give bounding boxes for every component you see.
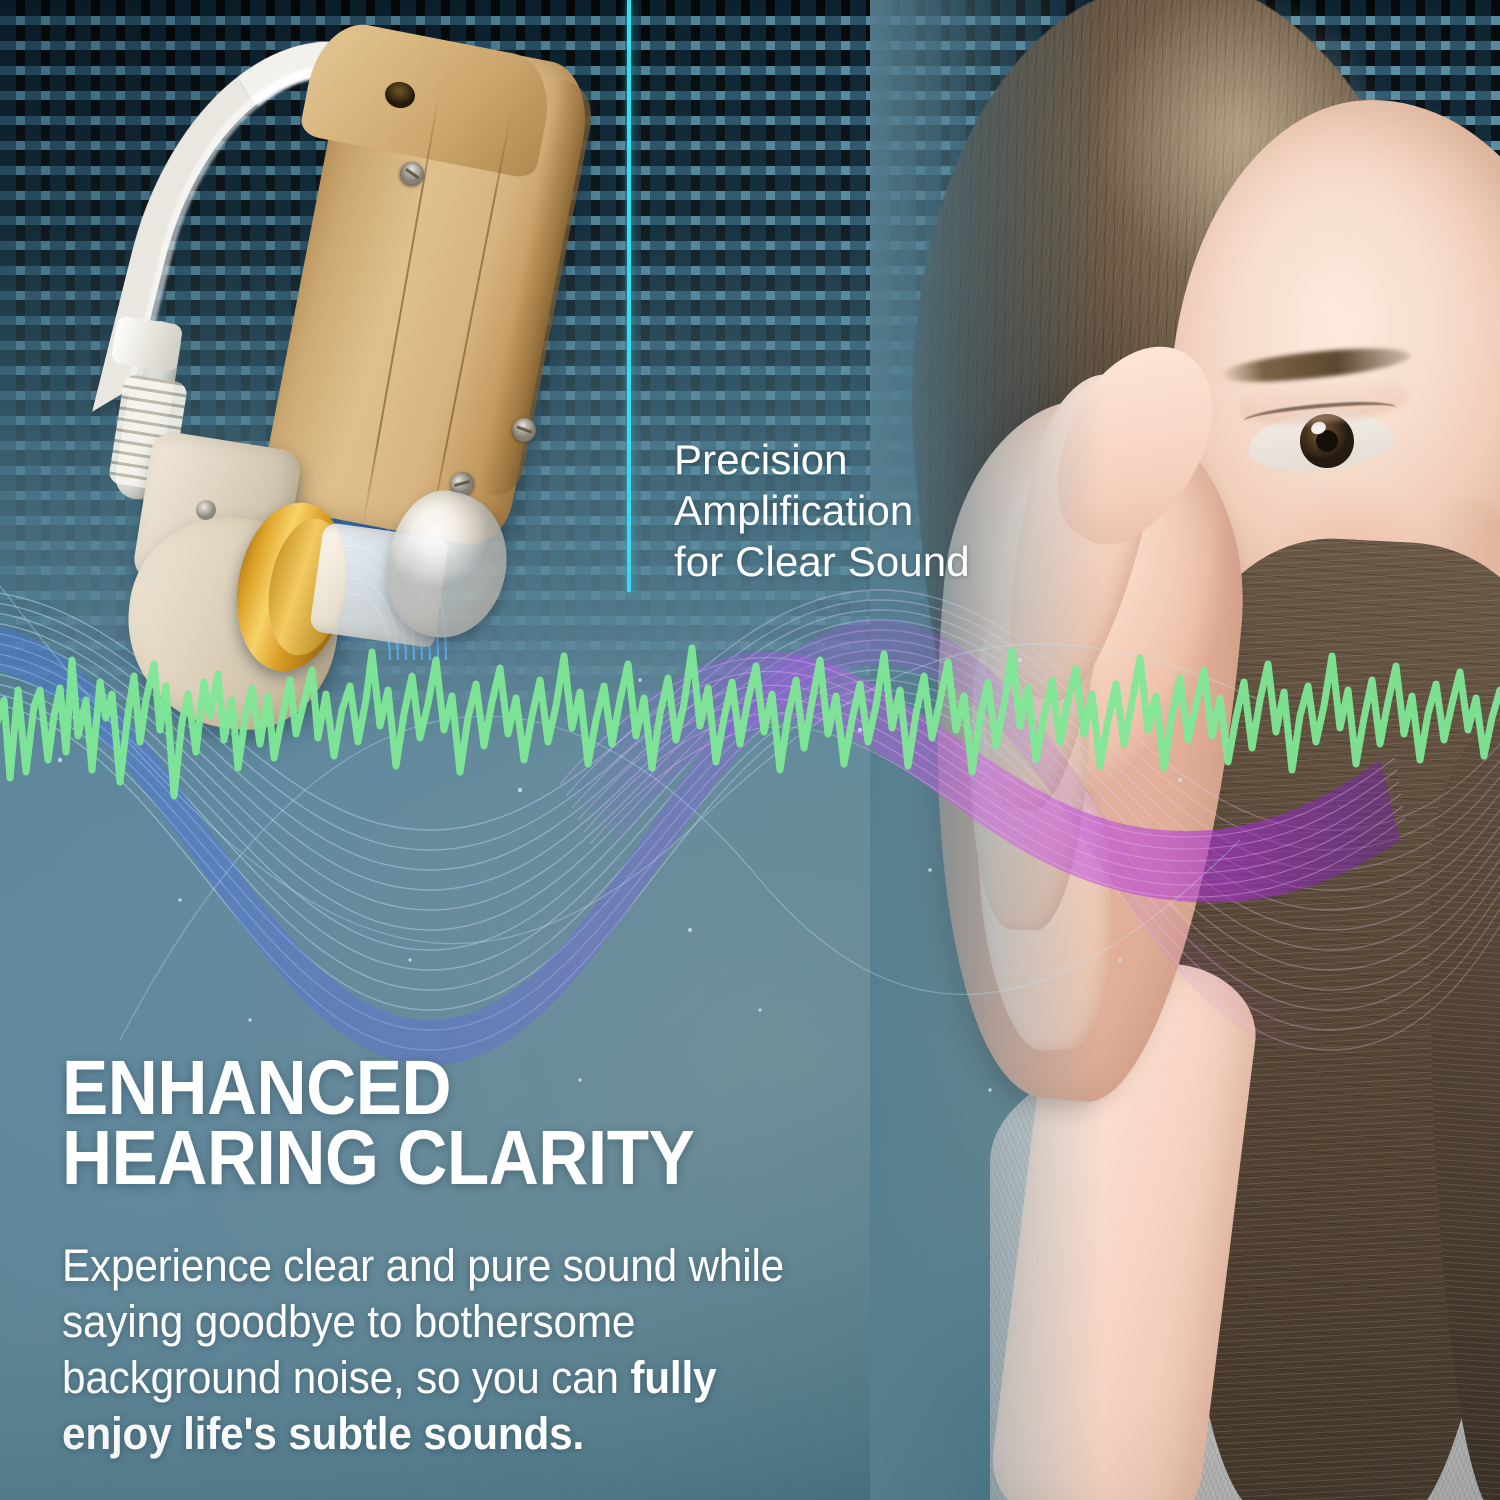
callout-line-3: for Clear Sound	[674, 536, 1094, 587]
callout-text-block: Precision Amplification for Clear Sound	[674, 434, 1094, 587]
headline-block: ENHANCED HEARING CLARITY	[62, 1053, 764, 1193]
waveform-path	[0, 648, 1500, 796]
poster-canvas: Precision Amplification for Clear Sound …	[0, 0, 1500, 1500]
headline-line-2: HEARING CLARITY	[62, 1123, 764, 1193]
callout-line-1: Precision	[674, 434, 1094, 485]
headline-line-1: ENHANCED	[62, 1053, 764, 1123]
description-paragraph: Experience clear and pure sound while sa…	[62, 1238, 823, 1462]
accent-divider-line	[627, 0, 631, 592]
callout-line-2: Amplification	[674, 485, 1094, 536]
